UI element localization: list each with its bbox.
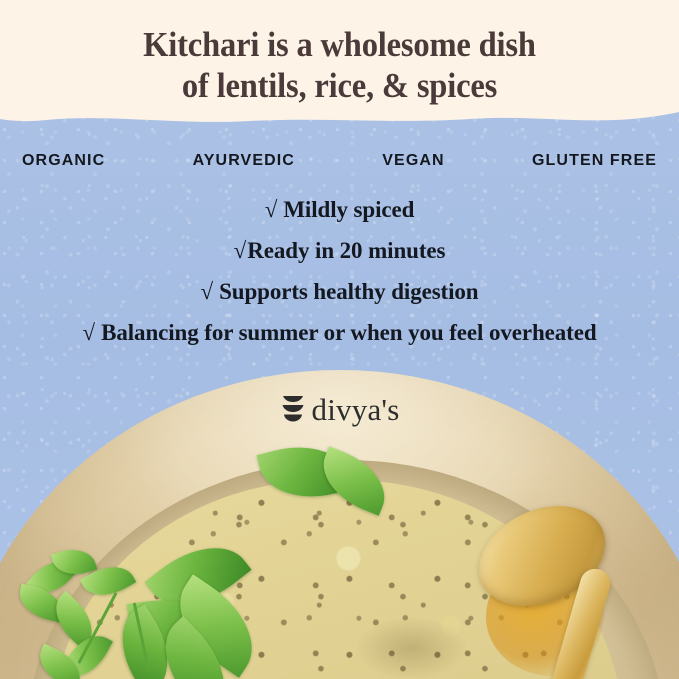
check-icon: √ (234, 239, 247, 262)
checklist-item-label: Mildly spiced (283, 197, 414, 223)
benefits-checklist: √ Mildly spiced √ Ready in 20 minutes √ … (0, 197, 679, 361)
page-title-line-2: of lentils, rice, & spices (24, 65, 655, 106)
check-icon: √ (82, 321, 95, 344)
brand-wordmark: divya's (312, 392, 400, 428)
checklist-item: √ Balancing for summer or when you feel … (0, 320, 679, 361)
brand-logo: divya's (0, 392, 679, 428)
page-title: Kitchari is a wholesome dish of lentils,… (24, 24, 655, 106)
attribute-badge-row: ORGANIC AYURVEDIC VEGAN GLUTEN FREE (22, 152, 657, 170)
badge-ayurvedic: AYURVEDIC (193, 152, 295, 170)
product-infographic: divya's Kitchari is a wholesome dish of … (0, 0, 679, 679)
page-title-line-1: Kitchari is a wholesome dish (24, 24, 655, 65)
checklist-item: √ Ready in 20 minutes (0, 238, 679, 279)
stacked-bowls-icon (280, 393, 306, 428)
checklist-item: √ Supports healthy digestion (0, 279, 679, 320)
check-icon: √ (265, 198, 278, 221)
badge-vegan: VEGAN (382, 152, 444, 170)
badge-gluten-free: GLUTEN FREE (532, 152, 657, 170)
checklist-item-label: Balancing for summer or when you feel ov… (101, 320, 596, 346)
checklist-item: √ Mildly spiced (0, 197, 679, 238)
checklist-item-label: Supports healthy digestion (219, 279, 478, 305)
checklist-item-label: Ready in 20 minutes (247, 238, 445, 264)
badge-organic: ORGANIC (22, 152, 105, 170)
check-icon: √ (200, 280, 213, 303)
